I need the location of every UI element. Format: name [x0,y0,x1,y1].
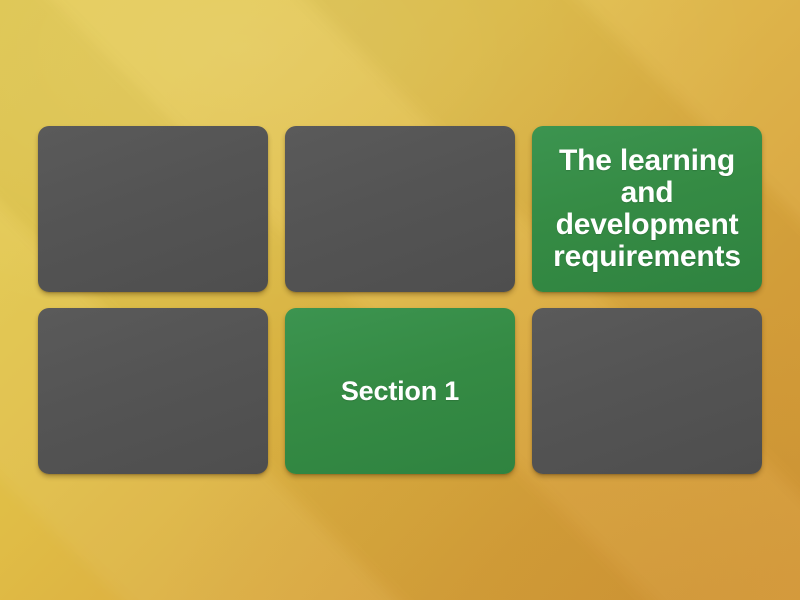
card-5-label: Section 1 [341,377,459,406]
card-6[interactable] [532,308,762,474]
card-4[interactable] [38,308,268,474]
card-1[interactable] [38,126,268,292]
card-5[interactable]: Section 1 [285,308,515,474]
card-2[interactable] [285,126,515,292]
matching-pairs-card-grid: The learning and development requirement… [38,126,762,474]
card-3-label: The learning and development requirement… [539,145,755,273]
card-3[interactable]: The learning and development requirement… [532,126,762,292]
